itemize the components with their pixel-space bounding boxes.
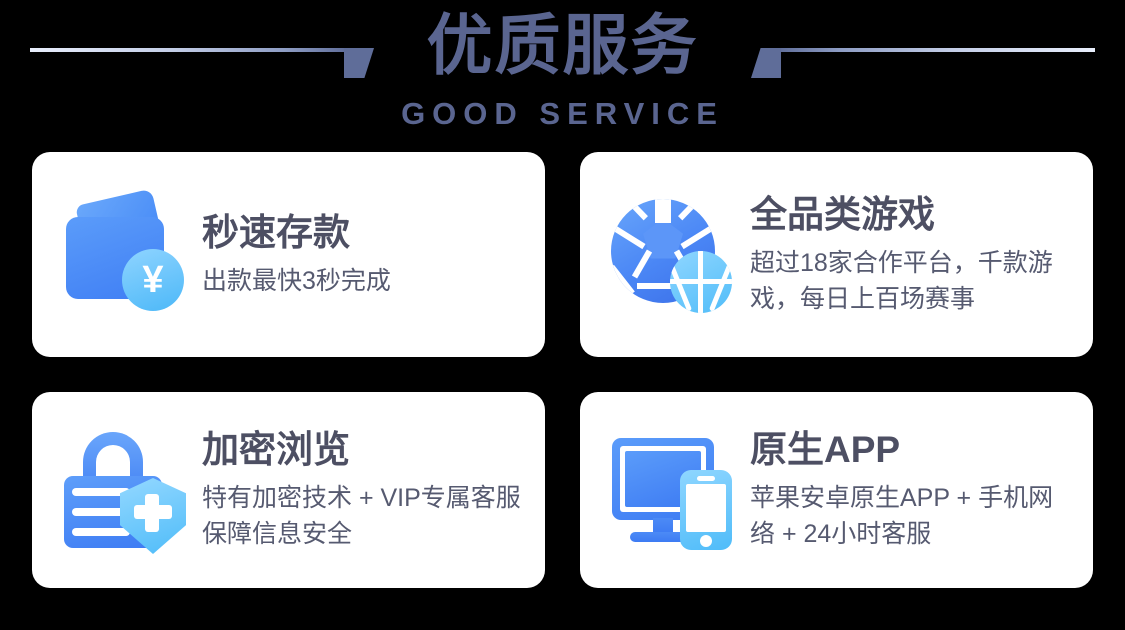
card-text-block: 加密浏览 特有加密技术 + VIP专属客服保障信息安全 (202, 428, 527, 552)
lock-shield-icon (60, 426, 188, 554)
feature-card-native-app[interactable]: 原生APP 苹果安卓原生APP + 手机网络 + 24小时客服 (580, 392, 1093, 588)
soccer-basketball-icon (608, 191, 736, 319)
card-text-block: 原生APP 苹果安卓原生APP + 手机网络 + 24小时客服 (750, 428, 1075, 552)
feature-card-games[interactable]: 全品类游戏 超过18家合作平台，千款游戏，每日上百场赛事 (580, 152, 1093, 357)
basketball-icon (670, 251, 732, 313)
card-title: 秒速存款 (202, 211, 527, 255)
page-title: 优质服务 (0, 6, 1125, 84)
wallet-yen-icon: ¥ (60, 191, 188, 319)
feature-card-grid: ¥ 秒速存款 出款最快3秒完成 (32, 152, 1093, 588)
page-subtitle: GOOD SERVICE (0, 96, 1125, 132)
feature-card-deposit[interactable]: ¥ 秒速存款 出款最快3秒完成 (32, 152, 545, 357)
card-text-block: 秒速存款 出款最快3秒完成 (202, 211, 527, 299)
card-title: 加密浏览 (202, 428, 527, 472)
card-title: 原生APP (750, 428, 1075, 472)
card-description: 超过18家合作平台，千款游戏，每日上百场赛事 (750, 245, 1075, 317)
yen-coin-icon: ¥ (122, 249, 184, 311)
feature-card-encryption[interactable]: 加密浏览 特有加密技术 + VIP专属客服保障信息安全 (32, 392, 545, 588)
monitor-phone-icon (608, 426, 736, 554)
page-header: 优质服务 GOOD SERVICE (0, 0, 1125, 140)
card-text-block: 全品类游戏 超过18家合作平台，千款游戏，每日上百场赛事 (750, 193, 1075, 317)
card-description: 出款最快3秒完成 (202, 263, 527, 299)
card-title: 全品类游戏 (750, 193, 1075, 237)
card-description: 苹果安卓原生APP + 手机网络 + 24小时客服 (750, 480, 1075, 552)
card-description: 特有加密技术 + VIP专属客服保障信息安全 (202, 480, 527, 552)
